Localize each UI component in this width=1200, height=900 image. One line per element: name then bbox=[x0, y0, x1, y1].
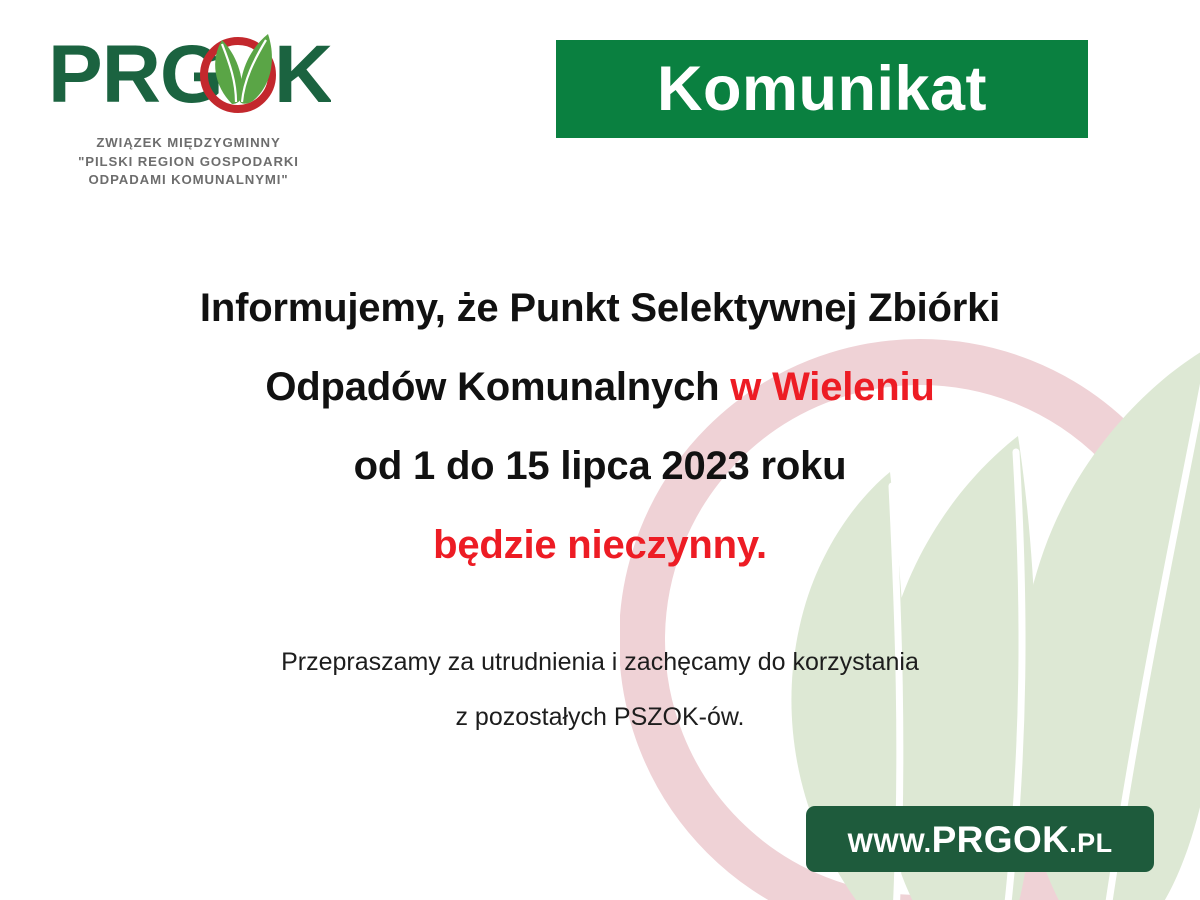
logo-wordmark-prg: PRG bbox=[48, 29, 223, 120]
banner-title: Komunikat bbox=[657, 58, 987, 121]
main-message: Informujemy, że Punkt Selektywnej Zbiórk… bbox=[0, 288, 1200, 565]
message-line-2: Odpadów Komunalnych w Wieleniu bbox=[0, 367, 1200, 407]
url-www: WWW. bbox=[848, 828, 932, 858]
message-line-2-black: Odpadów Komunalnych bbox=[265, 365, 730, 409]
logo-subtitle-line-1: ZWIĄZEK MIĘDZYGMINNY bbox=[46, 134, 331, 153]
note-line-1: Przepraszamy za utrudnienia i zachęcamy … bbox=[0, 650, 1200, 675]
url-domain: PRGOK bbox=[932, 819, 1070, 860]
logo-wordmark-k: K bbox=[274, 29, 331, 120]
message-line-3: od 1 do 15 lipca 2023 roku bbox=[0, 446, 1200, 486]
message-line-1: Informujemy, że Punkt Selektywnej Zbiórk… bbox=[0, 288, 1200, 328]
announcement-poster: PRG K ZWIĄZEK MIĘDZYGMINNY "PILSKI REGIO… bbox=[0, 0, 1200, 900]
prgok-logo-mark: PRG K bbox=[46, 22, 331, 128]
logo-subtitle: ZWIĄZEK MIĘDZYGMINNY "PILSKI REGION GOSP… bbox=[46, 134, 331, 190]
website-url-badge[interactable]: WWW.PRGOK.PL bbox=[806, 806, 1154, 872]
message-line-4: będzie nieczynny. bbox=[0, 525, 1200, 565]
message-line-1-text: Informujemy, że Punkt Selektywnej Zbiórk… bbox=[200, 286, 1000, 330]
logo-subtitle-line-2: "PILSKI REGION GOSPODARKI bbox=[46, 153, 331, 172]
apology-note: Przepraszamy za utrudnienia i zachęcamy … bbox=[0, 650, 1200, 730]
prgok-logo: PRG K ZWIĄZEK MIĘDZYGMINNY "PILSKI REGIO… bbox=[46, 22, 346, 190]
logo-subtitle-line-3: ODPADAMI KOMUNALNYMI" bbox=[46, 171, 331, 190]
url-tld: .PL bbox=[1069, 828, 1112, 858]
message-line-2-red: w Wieleniu bbox=[730, 365, 934, 409]
message-line-4-red: będzie nieczynny. bbox=[433, 523, 767, 567]
message-line-3-text: od 1 do 15 lipca 2023 roku bbox=[354, 444, 847, 488]
url-badge-text: WWW.PRGOK.PL bbox=[848, 821, 1113, 858]
note-line-2: z pozostałych PSZOK-ów. bbox=[0, 705, 1200, 730]
komunikat-banner: Komunikat bbox=[556, 40, 1088, 138]
